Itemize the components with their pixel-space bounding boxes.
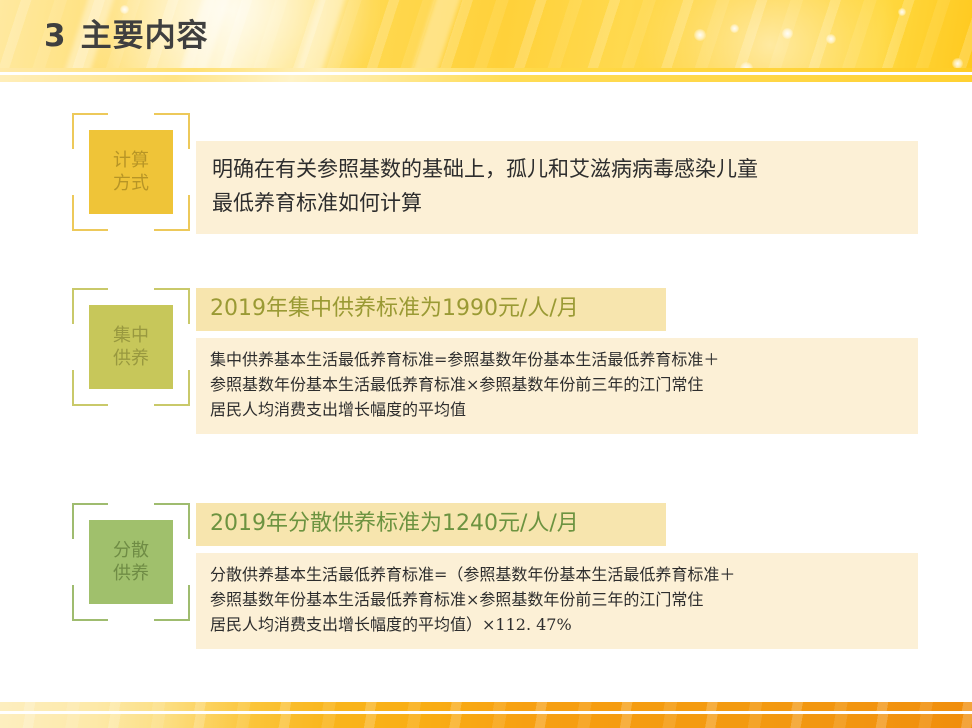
panel-heading-dispersed-support: 2019年分散供养标准为1240元/人/月 [196, 503, 666, 546]
page-title-text: 主要内容 [81, 18, 209, 54]
body-line: 居民人均消费支出增长幅度的平均值）×112. 47% [210, 613, 904, 638]
body-line: 分散供养基本生活最低养育标准=（参照基数年份基本生活最低养育标准＋ [210, 563, 904, 588]
badge-tile-label: 集中 供养 [89, 305, 173, 389]
page-title: 3主要内容 [44, 10, 209, 55]
content-block-calculation-method: 计算 方式 明确在有关参照基数的基础上，孤儿和艾滋病病毒感染儿童 最低养育标准如… [0, 113, 972, 243]
body-line: 明确在有关参照基数的基础上，孤儿和艾滋病病毒感染儿童 [212, 153, 902, 187]
panel-heading-centralized-support: 2019年集中供养标准为1990元/人/月 [196, 288, 666, 331]
footer-band-lower-stripes [0, 714, 972, 728]
header-sparkle-dot-icon [898, 8, 906, 16]
badge-line: 供养 [113, 562, 149, 585]
badge-calculation-method: 计算 方式 [72, 113, 190, 231]
body-line: 参照基数年份基本生活最低养育标准×参照基数年份前三年的江门常住 [210, 588, 904, 613]
slide-header: 3主要内容 [0, 0, 972, 68]
content-block-dispersed-support: 分散 供养 2019年分散供养标准为1240元/人/月 分散供养基本生活最低养育… [0, 503, 972, 663]
panel-body-text: 分散供养基本生活最低养育标准=（参照基数年份基本生活最低养育标准＋ 参照基数年份… [196, 553, 918, 649]
content-block-centralized-support: 集中 供养 2019年集中供养标准为1990元/人/月 集中供养基本生活最低养育… [0, 288, 972, 448]
badge-centralized-support: 集中 供养 [72, 288, 190, 406]
page-title-number: 3 [44, 18, 67, 54]
panel-body-text: 集中供养基本生活最低养育标准=参照基数年份基本生活最低养育标准＋ 参照基数年份基… [196, 338, 918, 434]
header-sparkle-dot-icon [694, 29, 706, 41]
body-line: 集中供养基本生活最低养育标准=参照基数年份基本生活最低养育标准＋ [210, 348, 904, 373]
panel-body-centralized-support: 集中供养基本生活最低养育标准=参照基数年份基本生活最低养育标准＋ 参照基数年份基… [196, 338, 918, 434]
badge-tile-label: 计算 方式 [89, 130, 173, 214]
footer-band-upper [0, 702, 972, 711]
badge-dispersed-support: 分散 供养 [72, 503, 190, 621]
header-sparkle-dot-icon [826, 34, 836, 44]
badge-line: 方式 [113, 172, 149, 195]
badge-line: 供养 [113, 347, 149, 370]
header-glow-right-decoration [640, 0, 900, 68]
badge-tile-label: 分散 供养 [89, 520, 173, 604]
header-sparkle-dot-icon [952, 58, 963, 68]
badge-line: 计算 [113, 149, 149, 172]
panel-body-dispersed-support: 分散供养基本生活最低养育标准=（参照基数年份基本生活最低养育标准＋ 参照基数年份… [196, 553, 918, 649]
footer-band-lower [0, 714, 972, 728]
body-line: 参照基数年份基本生活最低养育标准×参照基数年份前三年的江门常住 [210, 373, 904, 398]
panel-heading-text: 2019年分散供养标准为1240元/人/月 [196, 503, 666, 546]
badge-line: 集中 [113, 324, 149, 347]
panel-body-text: 明确在有关参照基数的基础上，孤儿和艾滋病病毒感染儿童 最低养育标准如何计算 [196, 141, 918, 234]
slide-footer [0, 680, 972, 728]
panel-heading-text: 2019年集中供养标准为1990元/人/月 [196, 288, 666, 331]
header-sparkle-dot-icon [730, 24, 739, 33]
header-sparkle-dot-icon [782, 28, 793, 39]
footer-band-upper-stripes [0, 702, 972, 711]
body-line: 居民人均消费支出增长幅度的平均值 [210, 398, 904, 423]
panel-calculation-method: 明确在有关参照基数的基础上，孤儿和艾滋病病毒感染儿童 最低养育标准如何计算 [196, 141, 918, 234]
header-divider-bottom [0, 75, 972, 82]
badge-line: 分散 [113, 539, 149, 562]
body-line: 最低养育标准如何计算 [212, 187, 902, 221]
